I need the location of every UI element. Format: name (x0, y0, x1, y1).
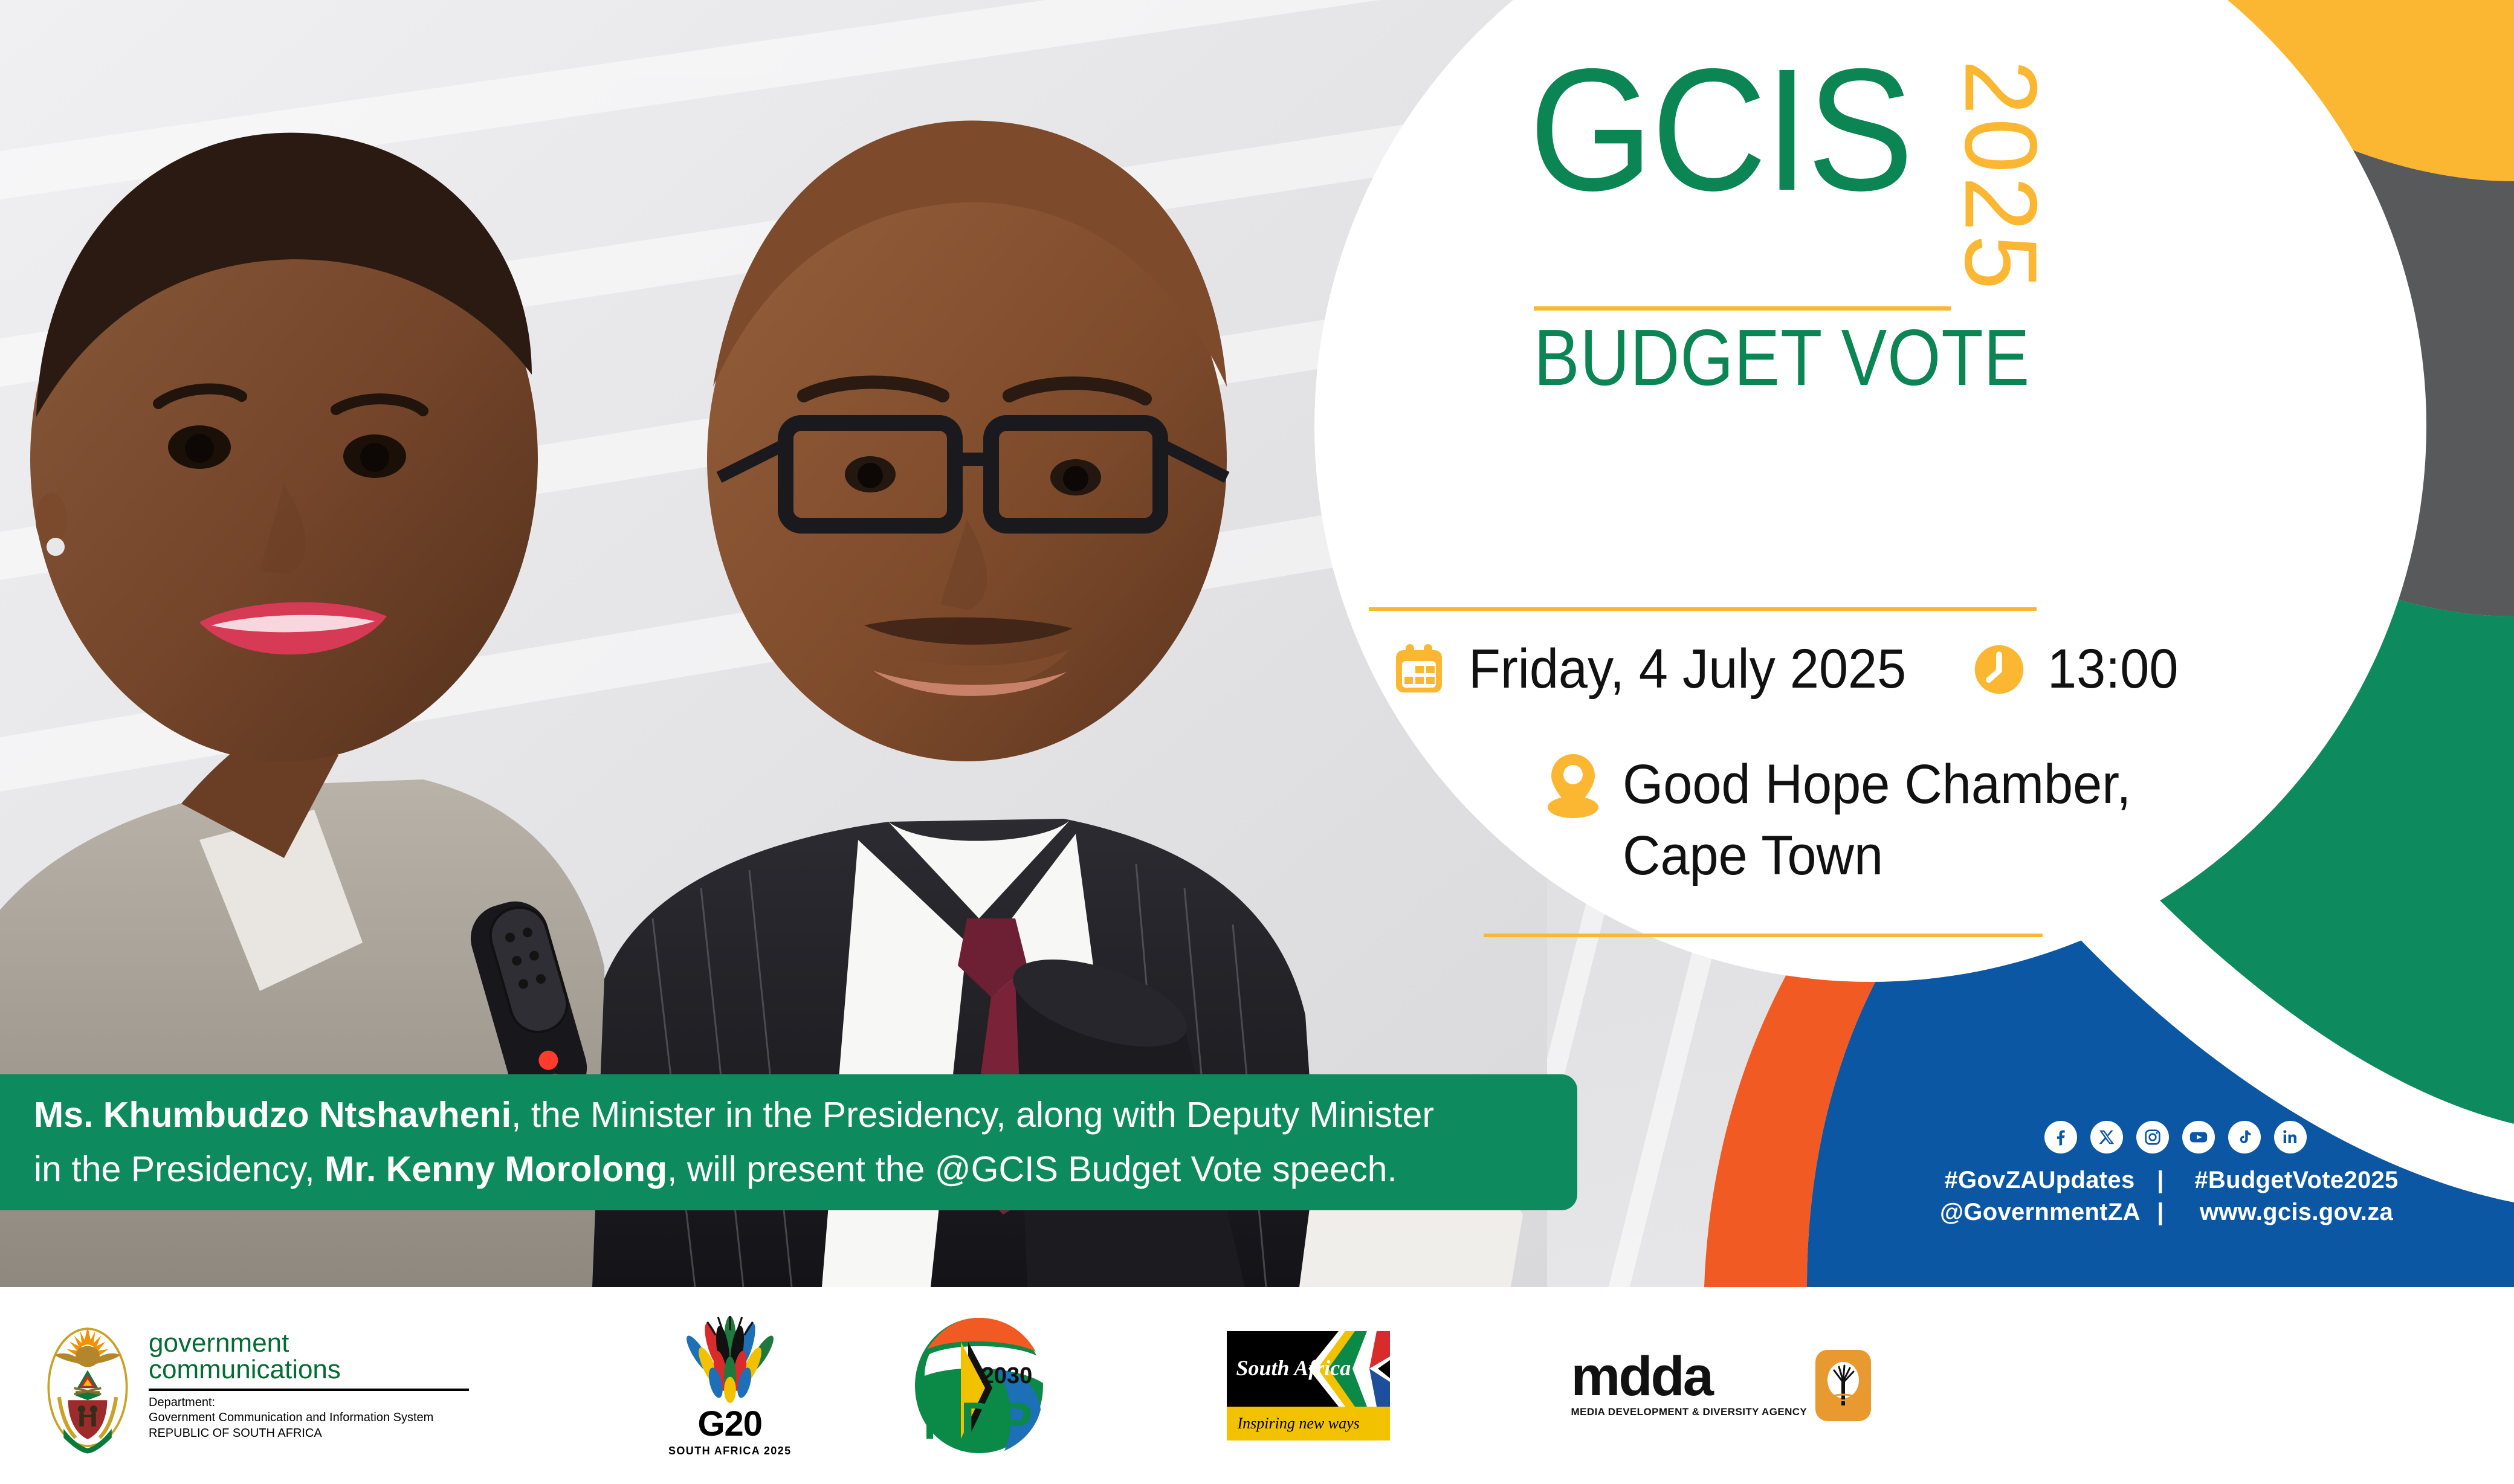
mdda-name: mdda (1571, 1353, 1808, 1401)
gov-dept-name: Government Communication and Information… (149, 1410, 469, 1426)
sa-coat-of-arms-icon (42, 1316, 133, 1455)
ndp-2030-icon: 2030 NDP (900, 1313, 1058, 1458)
social-text: #GovZAUpdates | #BudgetVote2025 @Governm… (1925, 1164, 2426, 1228)
poster-canvas: GCIS 2025 BUDGET VOTE Friday, 4 July 202… (0, 0, 2514, 1287)
hashtag-primary[interactable]: #GovZAUpdates (1940, 1164, 2139, 1196)
mdda-full-name: MEDIA DEVELOPMENT & DIVERSITY AGENCY (1571, 1406, 1808, 1418)
details-divider-top (1369, 607, 2037, 611)
logo-ndp: 2030 NDP (900, 1313, 1058, 1458)
ndp-year: 2030 (981, 1363, 1032, 1389)
social-separator-2: | (2139, 1196, 2182, 1228)
instagram-icon[interactable] (2136, 1121, 2169, 1153)
event-venue-row: Good Hope Chamber, Cape Town (1544, 749, 2163, 892)
gov-dept-label: Department: (149, 1395, 469, 1411)
logo-south-africa-brand: South Africa Inspiring new ways (1227, 1331, 1390, 1440)
brand-divider (1534, 306, 1951, 311)
location-pin-icon (1544, 749, 1602, 822)
youtube-icon[interactable] (2182, 1121, 2215, 1153)
hashtag-secondary[interactable]: #BudgetVote2025 (2182, 1164, 2411, 1196)
social-icon-row (1925, 1121, 2426, 1153)
caption-banner: Ms. Khumbudzo Ntshavheni, the Minister i… (0, 1074, 1577, 1210)
g20-subtitle: SOUTH AFRICA 2025 (668, 1445, 792, 1457)
g20-title: G20 (697, 1407, 762, 1442)
caption-line-1-rest: , the Minister in the Presidency, along … (511, 1095, 1434, 1135)
website-url[interactable]: www.gcis.gov.za (2182, 1196, 2411, 1228)
tiktok-icon[interactable] (2228, 1121, 2261, 1153)
brand-name: GCIS (1529, 57, 1911, 204)
social-block: #GovZAUpdates | #BudgetVote2025 @Governm… (1925, 1121, 2426, 1228)
event-datetime-row: Friday, 4 July 2025 13:00 (1390, 637, 2187, 701)
gov-logo-line-2: communications (149, 1357, 469, 1383)
brand-subtitle: BUDGET VOTE (1534, 318, 2091, 398)
logo-g20: G20 SOUTH AFRICA 2025 (668, 1314, 792, 1457)
sa-brand-tagline: Inspiring new ways (1238, 1415, 1360, 1433)
logo-government-communications: government communications Department: Go… (42, 1316, 469, 1455)
protea-flower-icon (670, 1314, 790, 1404)
footer-logo-strip: government communications Department: Go… (0, 1287, 2514, 1484)
calendar-icon (1390, 640, 1448, 698)
ndp-title: NDP (923, 1392, 1033, 1450)
event-time: 13:00 (2047, 637, 2178, 701)
event-venue: Good Hope Chamber, Cape Town (1623, 749, 2131, 892)
details-divider-bottom (1484, 934, 2043, 937)
clock-icon (1971, 642, 2027, 697)
gov-logo-line-1: government (149, 1330, 469, 1357)
linkedin-icon[interactable] (2274, 1121, 2307, 1153)
logo-mdda: mdda MEDIA DEVELOPMENT & DIVERSITY AGENC… (1571, 1350, 1872, 1421)
gov-logo-rule (149, 1389, 469, 1391)
speaker-name-minister: Ms. Khumbudzo Ntshavheni (34, 1095, 511, 1135)
caption-line-2-pre: in the Presidency, (34, 1149, 325, 1189)
caption-line-2: in the Presidency, Mr. Kenny Morolong, w… (34, 1143, 1543, 1197)
caption-line-2-rest: , will present the @GCIS Budget Vote spe… (667, 1149, 1397, 1189)
brand-block: GCIS 2025 BUDGET VOTE (1529, 57, 2182, 398)
event-date: Friday, 4 July 2025 (1469, 637, 1906, 701)
caption-line-1: Ms. Khumbudzo Ntshavheni, the Minister i… (34, 1088, 1543, 1143)
social-separator: | (2139, 1164, 2182, 1196)
facebook-icon[interactable] (2044, 1121, 2077, 1153)
mdda-tree-icon (1815, 1350, 1871, 1421)
speaker-name-deputy: Mr. Kenny Morolong (325, 1149, 667, 1189)
gov-country: REPUBLIC OF SOUTH AFRICA (149, 1426, 469, 1442)
sa-brand-name: South Africa (1236, 1355, 1351, 1381)
x-twitter-icon[interactable] (2090, 1121, 2123, 1153)
social-handle[interactable]: @GovernmentZA (1940, 1196, 2139, 1228)
brand-year: 2025 (1958, 60, 2042, 293)
